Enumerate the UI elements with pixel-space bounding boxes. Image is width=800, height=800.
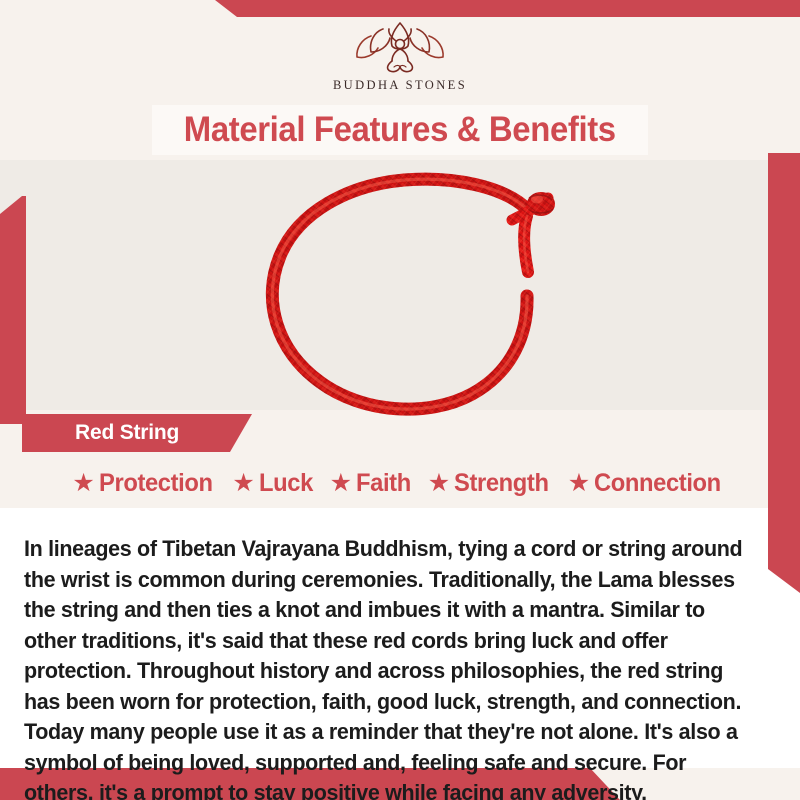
brand-header: BUDDHA STONES	[0, 17, 800, 100]
benefit-item-luck: ★ Luck	[232, 469, 315, 498]
brand-wordmark: BUDDHA STONES	[333, 78, 467, 93]
title-banner: Material Features & Benefits	[152, 105, 648, 155]
benefit-label: Faith	[356, 469, 411, 498]
material-label: Red String	[75, 421, 179, 445]
page-title: Material Features & Benefits	[184, 110, 616, 150]
star-icon: ★	[232, 471, 254, 496]
star-icon: ★	[330, 471, 352, 496]
material-label-banner: Red String	[22, 414, 252, 452]
star-icon: ★	[568, 471, 590, 496]
benefits-row: ★ Protection ★ Luck ★ Faith ★ Strength ★…	[0, 460, 800, 506]
benefit-label: Luck	[259, 469, 313, 498]
infographic-card: BUDDHA STONES Material Features & Benefi…	[0, 0, 800, 800]
description-paragraph: In lineages of Tibetan Vajrayana Buddhis…	[24, 534, 744, 800]
benefit-item-protection: ★ Protection	[72, 469, 218, 498]
right-red-bar-decoration	[768, 153, 800, 593]
benefit-label: Protection	[99, 469, 213, 498]
star-icon: ★	[428, 471, 450, 496]
lotus-meditation-icon	[340, 19, 460, 77]
benefit-item-strength: ★ Strength	[428, 469, 554, 498]
star-icon: ★	[72, 471, 94, 496]
benefit-item-faith: ★ Faith	[330, 469, 414, 498]
benefit-label: Connection	[594, 469, 721, 498]
benefit-label: Strength	[454, 469, 549, 498]
top-red-strip-decoration	[0, 0, 800, 17]
product-image-red-string-bracelet	[236, 168, 566, 423]
left-red-bar-decoration	[0, 196, 26, 424]
benefit-item-connection: ★ Connection	[568, 469, 728, 498]
